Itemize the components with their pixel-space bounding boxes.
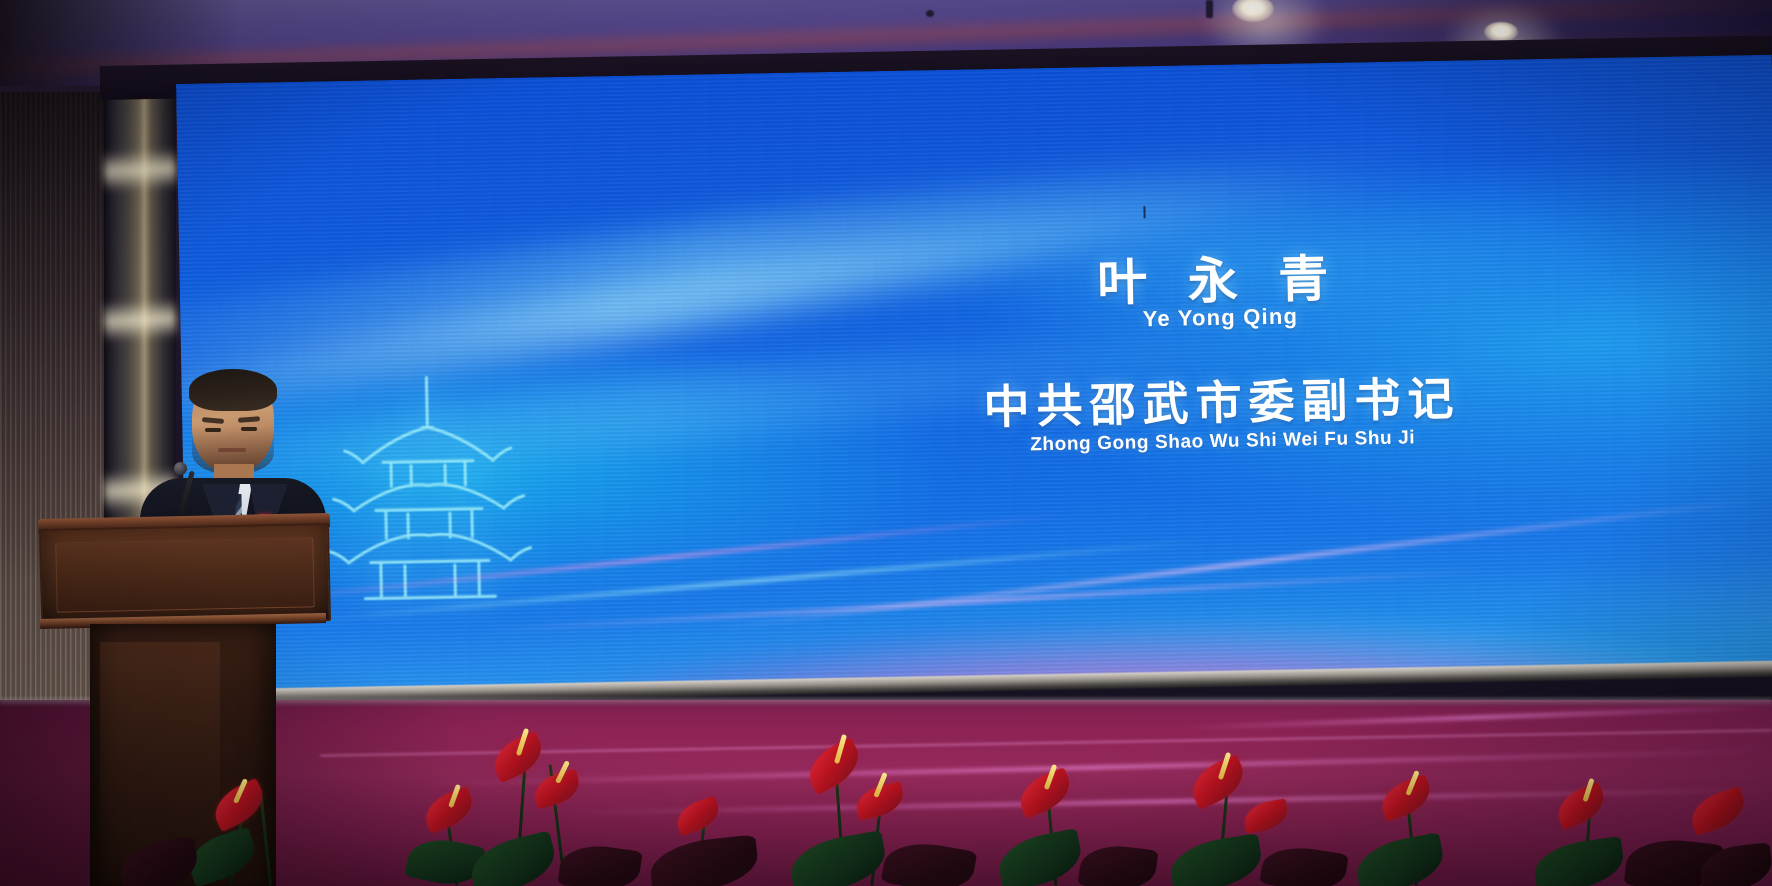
anthurium-flower — [801, 737, 867, 795]
ceiling-fixture — [1206, 0, 1213, 18]
anthurium-flower — [1014, 767, 1077, 819]
flower-leaf — [1531, 836, 1627, 886]
flower-leaf — [881, 837, 978, 886]
metal-column-sheen — [103, 298, 177, 342]
flower-leaf — [116, 836, 201, 886]
flower-leaf — [994, 828, 1086, 886]
podium-front-panel — [39, 523, 331, 627]
anthurium-flower — [1376, 774, 1436, 822]
speaker-mouth — [218, 448, 246, 452]
speaker-eye — [205, 428, 221, 432]
anthurium-flower — [1686, 786, 1750, 836]
spotlight-icon — [1484, 22, 1518, 42]
flower-arrangements — [0, 690, 1772, 886]
anthurium-flower — [487, 731, 548, 783]
led-screen — [176, 55, 1772, 704]
flower-leaf — [1167, 833, 1265, 886]
flower-leaf — [1259, 842, 1349, 886]
anthurium-flower — [1185, 754, 1251, 810]
flower-leaf — [648, 834, 761, 886]
anthurium-flower — [1242, 798, 1290, 833]
microphone-head — [174, 462, 187, 475]
anthurium-flower — [1552, 782, 1610, 830]
flower-leaf — [1352, 832, 1448, 886]
ceiling-fixture — [926, 10, 934, 17]
anthurium-flower — [420, 786, 478, 833]
metal-column-sheen — [103, 148, 177, 192]
flower-leaf — [465, 830, 560, 886]
anthurium-flower — [673, 796, 723, 836]
speaker-eye — [241, 427, 257, 431]
led-scanlines — [176, 55, 1772, 704]
conference-stage-photo: 叶 永 青 Ye Yong Qing 中共邵武市委副书记 Zhong Gong … — [0, 0, 1772, 886]
speaker-hair — [189, 369, 277, 411]
flower-leaf — [1078, 842, 1159, 886]
podium-inset-panel — [55, 537, 314, 612]
flower-leaf — [557, 841, 642, 886]
